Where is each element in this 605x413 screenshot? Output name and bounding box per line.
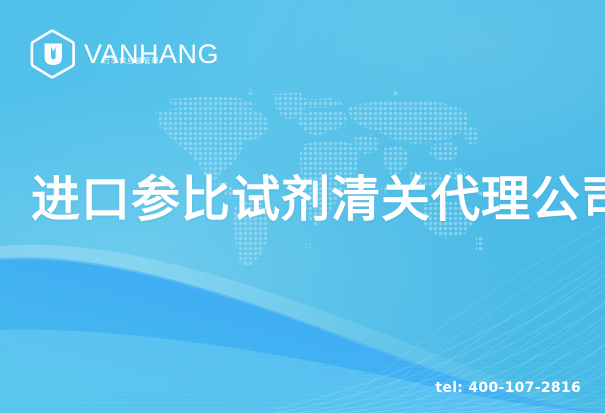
hexagon-u-logo-icon xyxy=(30,29,77,79)
contact-phone[interactable]: tel: 400-107-2816 xyxy=(435,380,581,396)
brand-logo[interactable]: VANHANG 万享供应链管理 xyxy=(30,29,219,79)
page-title: 进口参比试剂清关代理公司 xyxy=(31,174,605,225)
logo-subtitle-chinese: 万享供应链管理 xyxy=(103,58,160,65)
logo-text-group: VANHANG 万享供应链管理 xyxy=(84,32,219,76)
promo-banner: VANHANG 万享供应链管理 进口参比试剂清关代理公司 tel: 400-10… xyxy=(0,0,605,413)
